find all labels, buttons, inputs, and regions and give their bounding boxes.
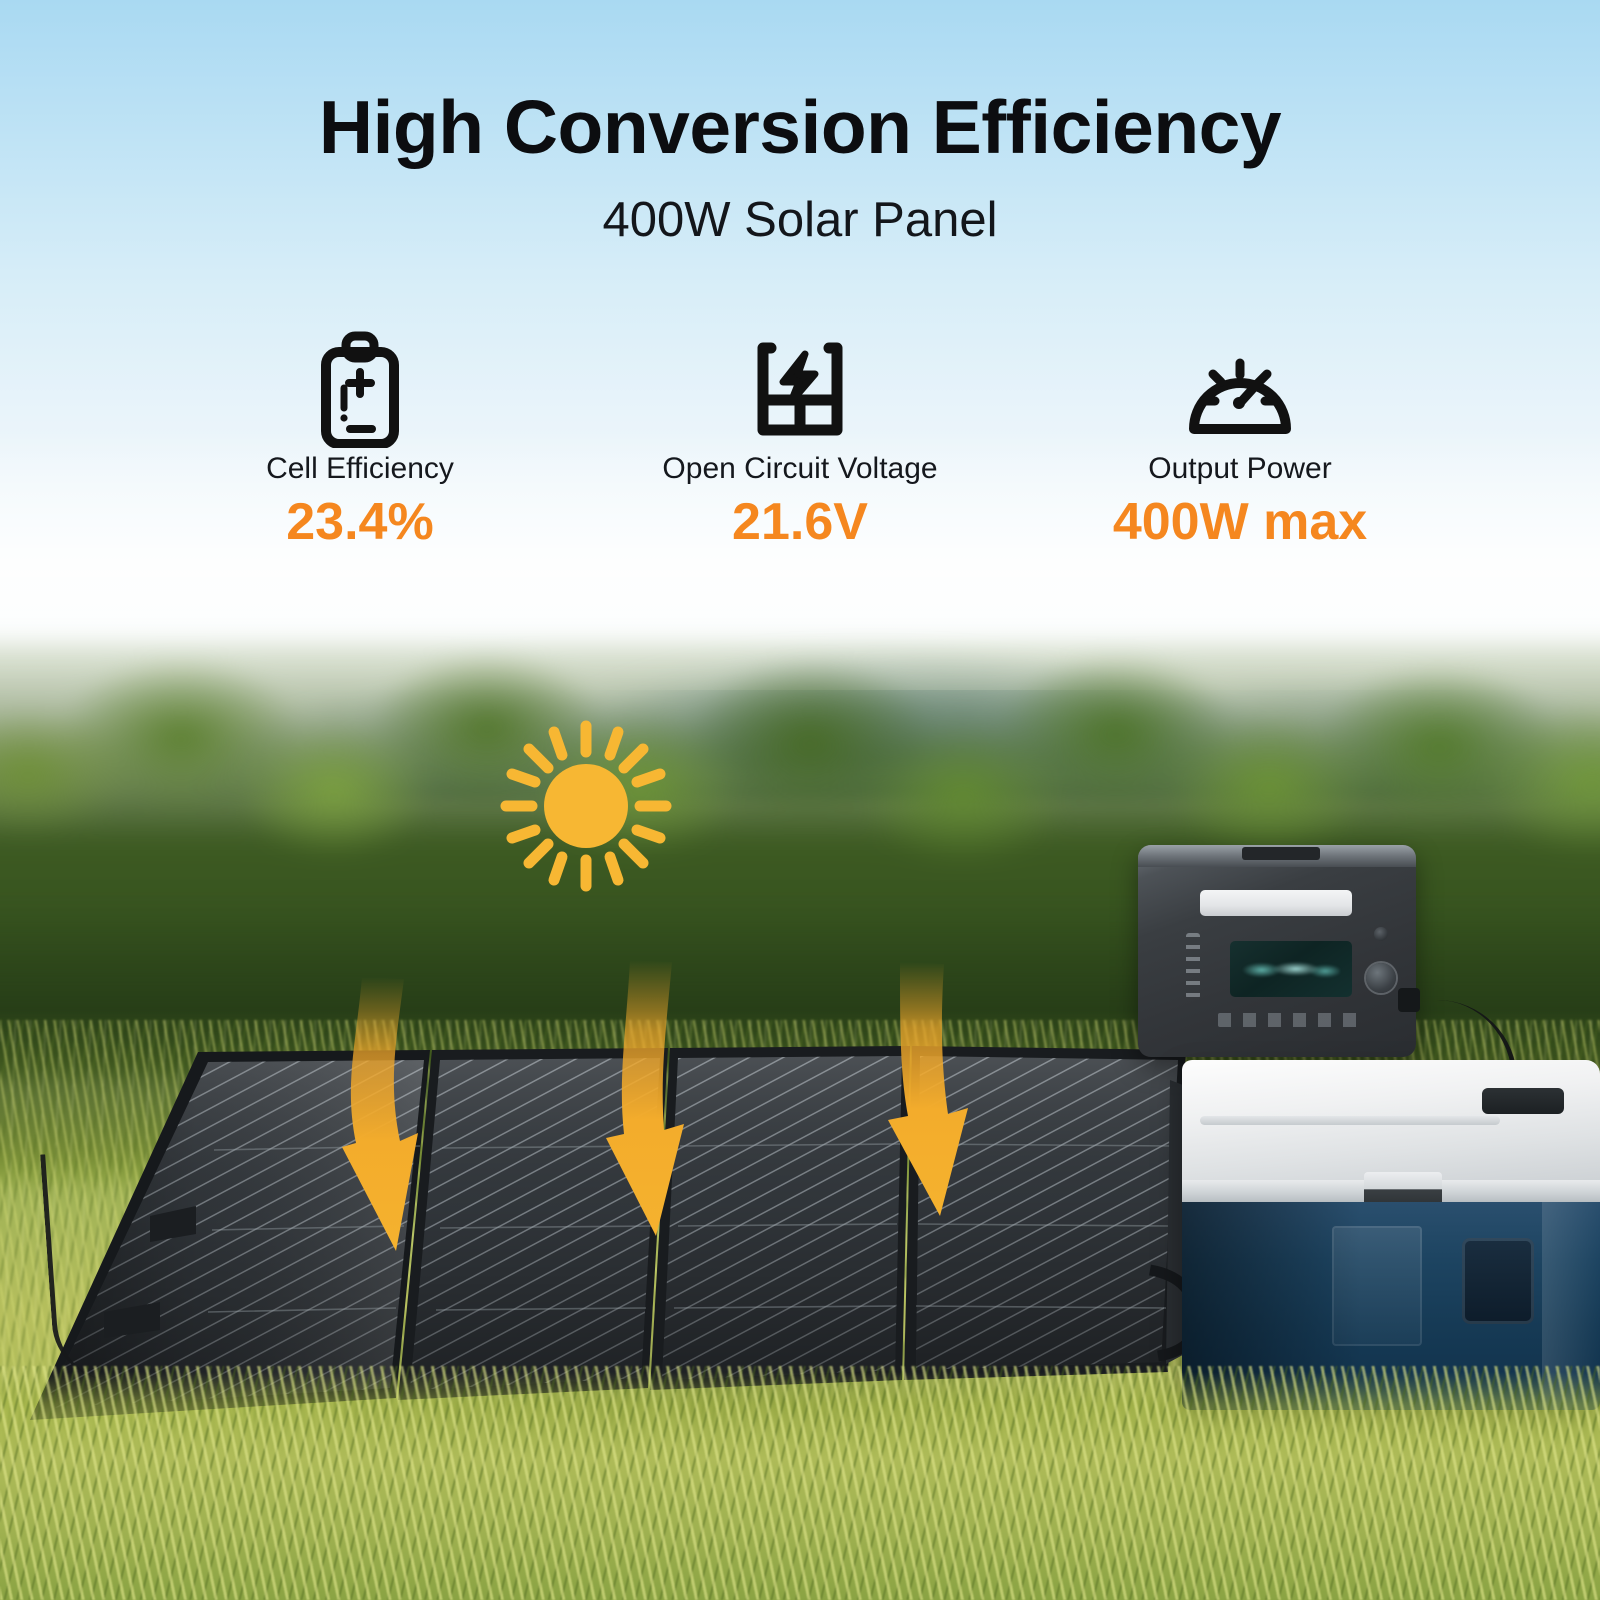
- cooler-top-handle: [1482, 1088, 1564, 1114]
- feature-value: 23.4%: [286, 496, 433, 548]
- page-subtitle: 400W Solar Panel: [0, 196, 1600, 245]
- cooler-lid-ridge: [1200, 1116, 1500, 1125]
- sun-icon: [496, 716, 676, 896]
- feature-cell-efficiency: Cell Efficiency 23.4%: [140, 330, 580, 590]
- down-arrow-3: [860, 960, 1040, 1220]
- cooler-side-handle[interactable]: [1462, 1238, 1534, 1324]
- feature-label: Output Power: [1148, 454, 1331, 484]
- page-title: High Conversion Efficiency: [0, 90, 1600, 165]
- portable-cooler: [1182, 1060, 1600, 1410]
- station-indicator-bars: [1186, 933, 1200, 999]
- feature-spec-row: Cell Efficiency 23.4% Open Circuit Volta…: [140, 330, 1460, 590]
- gauge-icon: [1180, 330, 1300, 448]
- station-display-screen: [1230, 941, 1352, 997]
- product-feature-banner: High Conversion Efficiency 400W Solar Pa…: [0, 0, 1600, 1600]
- station-handle: [1200, 890, 1352, 916]
- cooler-latch[interactable]: [1364, 1172, 1442, 1206]
- battery-icon: [306, 330, 414, 448]
- station-led-indicator: [1374, 927, 1388, 941]
- feature-output-power: Output Power 400W max: [1020, 330, 1460, 590]
- feature-label: Cell Efficiency: [266, 454, 454, 484]
- solar-panel-bolt-icon: [741, 330, 859, 448]
- feature-value: 21.6V: [732, 496, 868, 548]
- station-power-dial[interactable]: [1366, 963, 1396, 993]
- down-arrow-1: [300, 975, 480, 1255]
- portable-power-station: [1138, 845, 1416, 1057]
- feature-open-circuit-voltage: Open Circuit Voltage 21.6V: [580, 330, 1020, 590]
- down-arrow-2: [572, 958, 752, 1238]
- feature-value: 400W max: [1113, 496, 1367, 548]
- panel-cable: [40, 1146, 181, 1384]
- station-top-notch: [1242, 847, 1320, 860]
- feature-label: Open Circuit Voltage: [662, 454, 937, 484]
- station-output-ports: [1218, 1013, 1368, 1027]
- foreground-grass-texture: [0, 1366, 1600, 1600]
